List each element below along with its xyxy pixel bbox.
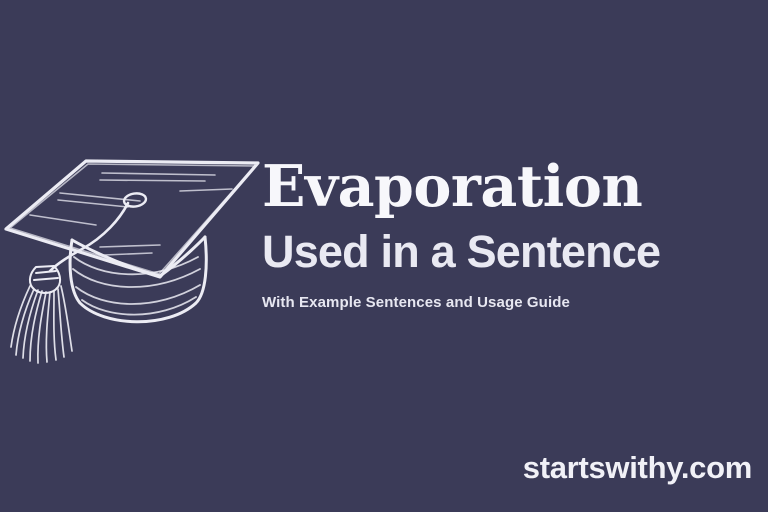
mortarboard-board-icon [6, 161, 258, 277]
tassel-strands [11, 286, 72, 363]
tagline-text: With Example Sentences and Usage Guide [262, 293, 754, 313]
cap-base-contours [73, 257, 200, 315]
headline-subtitle: Used in a Sentence [262, 227, 754, 277]
site-brand: startswithy.com [523, 450, 752, 486]
social-card: Evaporation Used in a Sentence With Exam… [0, 0, 768, 512]
page-title: Evaporation [262, 155, 754, 219]
headline-block: Evaporation Used in a Sentence With Exam… [262, 155, 754, 313]
board-hatch-lines [30, 173, 232, 255]
graduation-cap-illustration [0, 145, 270, 375]
